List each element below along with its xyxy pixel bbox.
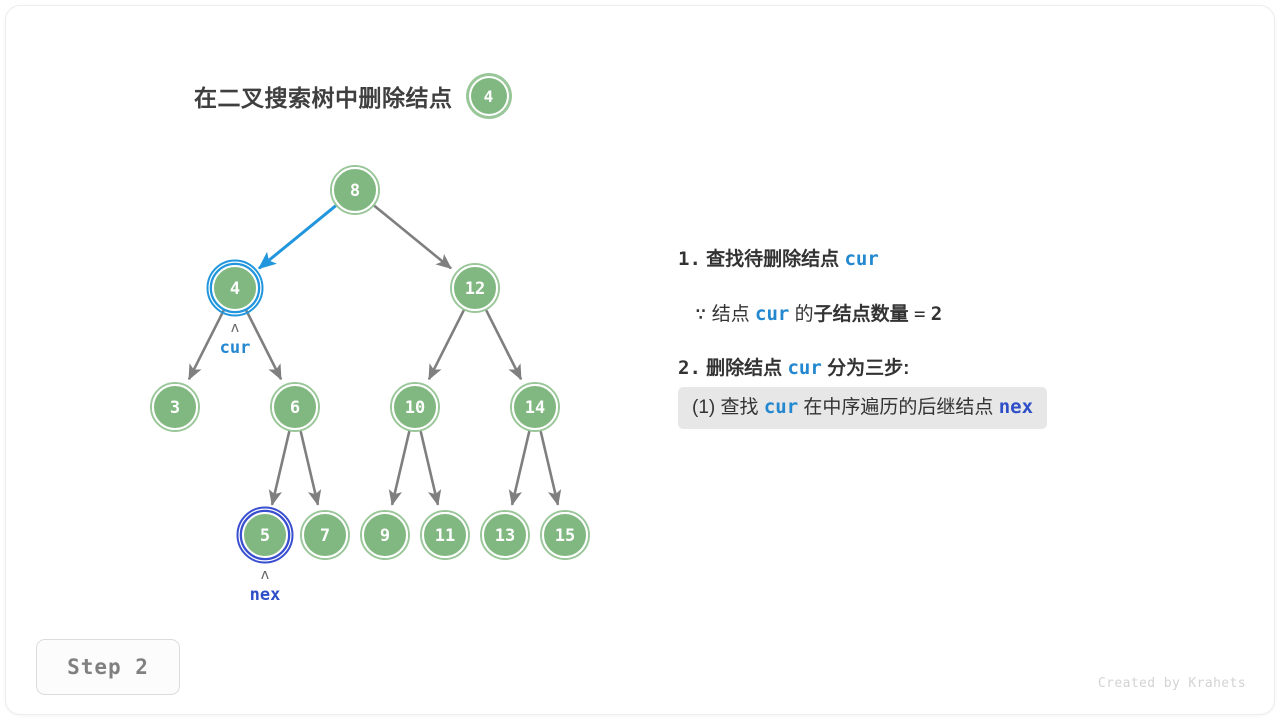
tree-edge	[420, 430, 437, 504]
step-badge: Step 2	[36, 639, 180, 695]
because-symbol: ∵	[695, 303, 706, 325]
tree-edge	[392, 430, 409, 504]
panel-line-4-highlight-box: (1) 查找 cur 在中序遍历的后继结点 nex	[678, 387, 1047, 430]
pointer-caret-icon: ʌ	[231, 320, 239, 336]
panel-line-4-cur-token: cur	[764, 396, 798, 418]
tree-edge	[486, 309, 521, 379]
panel-line-2-cur-token: cur	[755, 303, 789, 325]
tree-node-value: 13	[495, 526, 515, 546]
panel-line-1-index: 1.	[678, 248, 701, 270]
pointer-caret-icon: ʌ	[261, 567, 269, 583]
panel-line-3-post: 分为三步:	[827, 358, 909, 379]
tree-node[interactable]: 6	[271, 383, 319, 431]
panel-line-1-cur-token: cur	[844, 248, 878, 270]
tree-node[interactable]: 12	[451, 264, 499, 312]
panel-line-2-pre: 结点	[712, 304, 750, 325]
panel-line-4-mid: 在中序遍历的后继结点	[803, 397, 993, 418]
tree-edge	[540, 430, 557, 504]
explanation-panel: 1. 查找待删除结点 cur ∵ 结点 cur 的子结点数量 = 2 2. 删除…	[678, 246, 1248, 429]
tree-node-value: 9	[380, 526, 390, 546]
tree-node-value: 11	[435, 526, 455, 546]
tree-node-value: 12	[465, 279, 485, 299]
tree-node[interactable]: 14	[511, 383, 559, 431]
tree-node-value: 4	[230, 279, 240, 299]
tree-node[interactable]: 8	[331, 166, 379, 214]
tree-node[interactable]: 13	[481, 511, 529, 559]
tree-node-value: 3	[170, 398, 180, 418]
tree-node-value: 5	[260, 526, 270, 546]
tree-node-value: 14	[525, 398, 545, 418]
tree-node-value: 8	[350, 181, 360, 201]
panel-line-3-cur-token: cur	[787, 357, 821, 379]
tree-edge	[272, 430, 289, 504]
pointer-label-cur: ʌcur	[220, 320, 251, 358]
tree-edge	[300, 430, 317, 504]
tree-node-value: 7	[320, 526, 330, 546]
tree-node[interactable]: 9	[361, 511, 409, 559]
panel-line-1: 1. 查找待删除结点 cur	[678, 246, 1248, 274]
pointer-label-nex: ʌnex	[250, 567, 281, 605]
tree-edge	[429, 309, 464, 379]
slide-root: 在二叉搜索树中删除结点 4 8412361014579111315 ʌcurʌn…	[0, 0, 1280, 720]
tree-node[interactable]: 7	[301, 511, 349, 559]
tree-node[interactable]: 4	[208, 261, 263, 316]
panel-line-2-value: 2	[931, 303, 942, 325]
panel-line-2-operator: =	[914, 303, 925, 325]
panel-line-1-text: 查找待删除结点	[706, 249, 839, 270]
tree-edge	[259, 205, 336, 268]
tree-node[interactable]: 11	[421, 511, 469, 559]
tree-node-value: 15	[555, 526, 575, 546]
tree-nodes: 8412361014579111315	[151, 166, 589, 563]
panel-line-3-pre: 删除结点	[706, 358, 782, 379]
panel-line-4-wrapper: (1) 查找 cur 在中序遍历的后继结点 nex	[678, 387, 1248, 430]
binary-search-tree-diagram: 8412361014579111315 ʌcurʌnex	[0, 0, 660, 640]
panel-line-4-pre: 查找	[721, 397, 759, 418]
panel-line-2-bold: 子结点数量	[814, 304, 909, 325]
tree-edge	[374, 205, 451, 268]
panel-line-3-index: 2.	[678, 357, 701, 379]
panel-line-2-mid: 的	[795, 304, 814, 325]
tree-node-value: 6	[290, 398, 300, 418]
tree-node[interactable]: 5	[238, 508, 293, 563]
tree-node[interactable]: 10	[391, 383, 439, 431]
panel-line-4-index: (1)	[692, 397, 715, 418]
step-badge-label: Step 2	[67, 655, 149, 679]
tree-node[interactable]: 3	[151, 383, 199, 431]
tree-node-value: 10	[405, 398, 425, 418]
tree-node[interactable]: 15	[541, 511, 589, 559]
panel-line-3: 2. 删除结点 cur 分为三步:	[678, 355, 1248, 383]
panel-line-2: ∵ 结点 cur 的子结点数量 = 2	[678, 301, 1248, 329]
pointer-name: nex	[250, 585, 281, 605]
tree-edge	[512, 430, 529, 504]
pointer-name: cur	[220, 338, 251, 358]
credit-text: Created by Krahets	[1098, 676, 1246, 691]
panel-line-4-nex-token: nex	[999, 396, 1033, 418]
tree-edge	[246, 309, 281, 379]
